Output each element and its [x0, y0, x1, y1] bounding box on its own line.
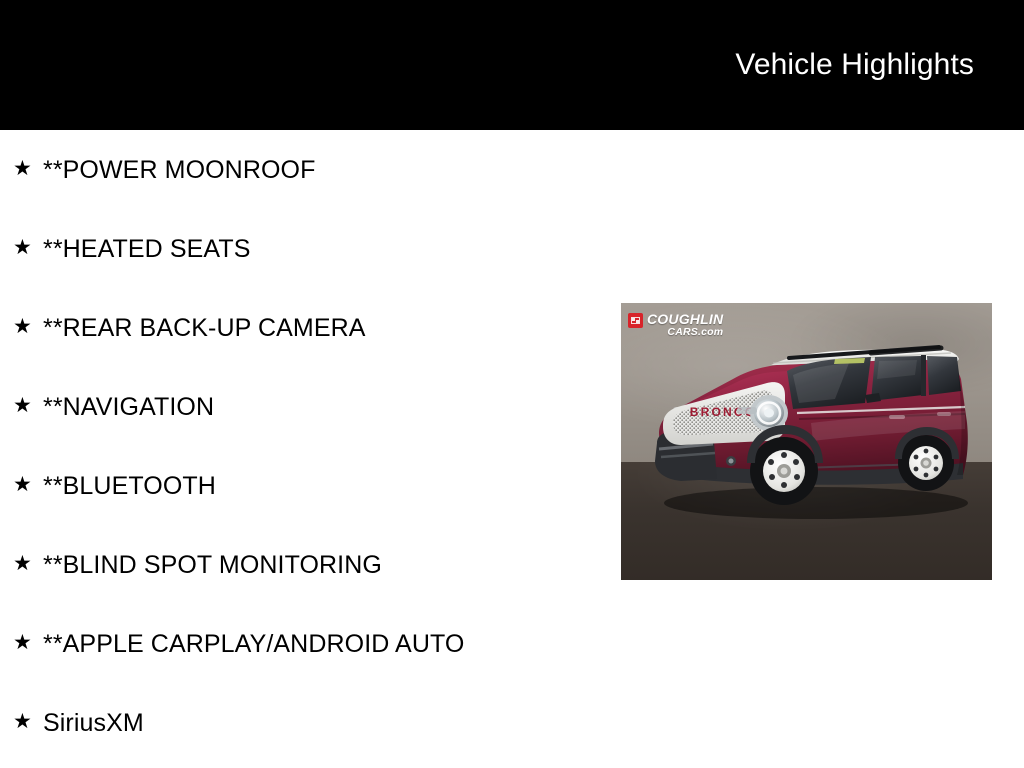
watermark-text: COUGHLIN CARS.com — [647, 312, 723, 338]
dealer-watermark: COUGHLIN CARS.com — [628, 312, 723, 338]
star-icon: ★ — [13, 632, 35, 653]
b-pillar — [921, 355, 926, 396]
list-item-label: **BLUETOOTH — [43, 472, 216, 500]
vehicle-highlights-list: ★ **POWER MOONROOF ★ **HEATED SEATS ★ **… — [0, 130, 610, 762]
vehicle-shadow — [664, 487, 968, 519]
list-item: ★ **HEATED SEATS — [0, 209, 610, 288]
list-item-label: **REAR BACK-UP CAMERA — [43, 314, 366, 342]
list-item-label: **BLIND SPOT MONITORING — [43, 551, 382, 579]
list-item: ★ **BLUETOOTH — [0, 446, 610, 525]
star-icon: ★ — [13, 395, 35, 416]
rear-side-window — [927, 356, 961, 395]
front-door-handle — [889, 415, 905, 419]
coughlin-badge-icon — [628, 313, 643, 328]
watermark-line2: CARS.com — [647, 327, 723, 338]
list-item: ★ **BLIND SPOT MONITORING — [0, 525, 610, 604]
rear-door-handle — [937, 412, 951, 416]
list-item-label: SiriusXM — [43, 709, 144, 737]
list-item: ★ **APPLE CARPLAY/ANDROID AUTO — [0, 604, 610, 683]
list-item-label: **APPLE CARPLAY/ANDROID AUTO — [43, 630, 464, 658]
list-item-label: **POWER MOONROOF — [43, 156, 315, 184]
star-icon: ★ — [13, 474, 35, 495]
star-icon: ★ — [13, 237, 35, 258]
header-bar: Vehicle Highlights — [0, 0, 1024, 130]
list-item: ★ SiriusXM — [0, 683, 610, 762]
star-icon: ★ — [13, 711, 35, 732]
watermark-line1: COUGHLIN — [647, 312, 723, 326]
vehicle-photo: COUGHLIN CARS.com — [621, 303, 992, 580]
list-item: ★ **POWER MOONROOF — [0, 130, 610, 209]
list-item-label: **NAVIGATION — [43, 393, 214, 421]
star-icon: ★ — [13, 158, 35, 179]
list-item-label: **HEATED SEATS — [43, 235, 250, 263]
star-icon: ★ — [13, 553, 35, 574]
windshield-tint-strip — [834, 358, 865, 364]
list-item: ★ **REAR BACK-UP CAMERA — [0, 288, 610, 367]
star-icon: ★ — [13, 316, 35, 337]
list-item: ★ **NAVIGATION — [0, 367, 610, 446]
page-title: Vehicle Highlights — [735, 48, 974, 82]
vehicle-illustration: BRONCO — [621, 303, 992, 580]
